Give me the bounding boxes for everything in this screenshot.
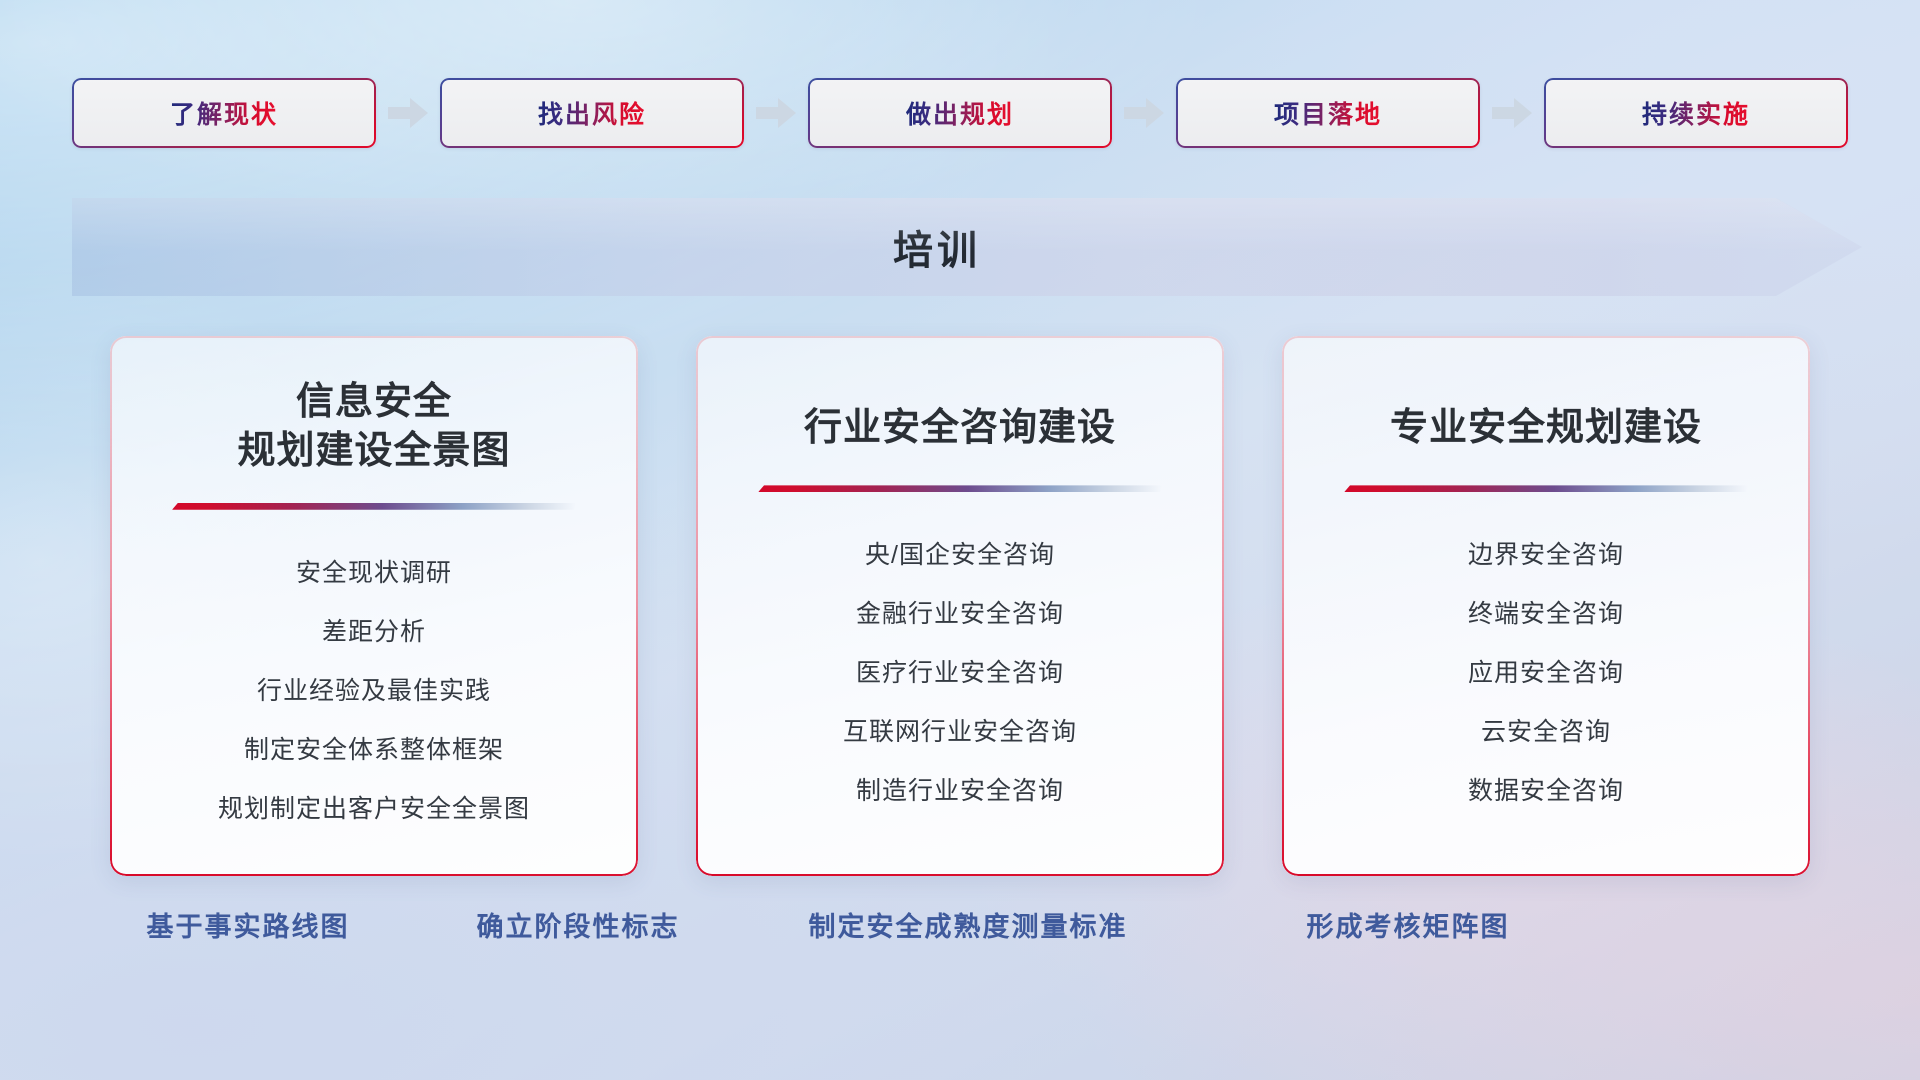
card-divider [1344, 485, 1748, 492]
service-card-3[interactable]: 专业安全规划建设边界安全咨询终端安全咨询应用安全咨询云安全咨询数据安全咨询 [1282, 336, 1810, 876]
footnote-4: 形成考核矩阵图 [1307, 905, 1510, 944]
list-item: 云安全咨询 [1481, 707, 1611, 757]
card-body: 专业安全规划建设边界安全咨询终端安全咨询应用安全咨询云安全咨询数据安全咨询 [1282, 336, 1810, 876]
list-item: 制造行业安全咨询 [856, 766, 1064, 816]
card-body: 行业安全咨询建设央/国企安全咨询金融行业安全咨询医疗行业安全咨询互联网行业安全咨… [696, 336, 1224, 876]
card-divider [758, 485, 1162, 492]
list-item: 互联网行业安全咨询 [843, 707, 1077, 757]
pipeline-step-label: 了解现状 [170, 95, 278, 131]
training-banner: 培训 [72, 198, 1862, 296]
pipeline-step-label: 做出规划 [906, 95, 1014, 131]
card-title: 行业安全咨询建设 [804, 404, 1116, 453]
banner-title: 培训 [72, 198, 1862, 296]
list-item: 规划制定出客户安全全景图 [218, 784, 530, 834]
card-divider [172, 503, 576, 510]
footnote-1: 基于事实路线图 [147, 905, 350, 944]
right-arrow-icon [1112, 78, 1176, 148]
pipeline-step-2[interactable]: 找出风险 [440, 78, 744, 148]
list-item: 差距分析 [322, 607, 426, 657]
card-title: 专业安全规划建设 [1390, 404, 1702, 453]
service-card-2[interactable]: 行业安全咨询建设央/国企安全咨询金融行业安全咨询医疗行业安全咨询互联网行业安全咨… [696, 336, 1224, 876]
list-item: 金融行业安全咨询 [856, 589, 1064, 639]
card-item-list: 央/国企安全咨询金融行业安全咨询医疗行业安全咨询互联网行业安全咨询制造行业安全咨… [726, 530, 1194, 816]
card-item-list: 安全现状调研差距分析行业经验及最佳实践制定安全体系整体框架规划制定出客户安全全景… [140, 548, 608, 834]
right-arrow-icon [376, 78, 440, 148]
footnote-2: 确立阶段性标志 [477, 905, 680, 944]
service-cards: 信息安全 规划建设全景图安全现状调研差距分析行业经验及最佳实践制定安全体系整体框… [110, 336, 1810, 876]
list-item: 行业经验及最佳实践 [257, 666, 491, 716]
right-arrow-icon [744, 78, 808, 148]
list-item: 医疗行业安全咨询 [856, 648, 1064, 698]
list-item: 应用安全咨询 [1468, 648, 1624, 698]
right-arrow-icon [1480, 78, 1544, 148]
pipeline-step-label: 找出风险 [538, 95, 646, 131]
footnote-row: 基于事实路线图确立阶段性标志制定安全成熟度测量标准形成考核矩阵图 [0, 905, 1920, 965]
pipeline-step-5[interactable]: 持续实施 [1544, 78, 1848, 148]
card-body: 信息安全 规划建设全景图安全现状调研差距分析行业经验及最佳实践制定安全体系整体框… [110, 336, 638, 876]
footnote-3: 制定安全成熟度测量标准 [809, 905, 1128, 944]
list-item: 边界安全咨询 [1468, 530, 1624, 580]
pipeline-step-label: 项目落地 [1274, 95, 1382, 131]
banner-arrow-shape: 培训 [72, 198, 1862, 296]
list-item: 制定安全体系整体框架 [244, 725, 504, 775]
card-item-list: 边界安全咨询终端安全咨询应用安全咨询云安全咨询数据安全咨询 [1312, 530, 1780, 816]
list-item: 数据安全咨询 [1468, 766, 1624, 816]
pipeline-step-3[interactable]: 做出规划 [808, 78, 1112, 148]
pipeline-step-1[interactable]: 了解现状 [72, 78, 376, 148]
pipeline-step-label: 持续实施 [1642, 95, 1750, 131]
list-item: 安全现状调研 [296, 548, 452, 598]
card-title: 信息安全 规划建设全景图 [237, 378, 510, 477]
list-item: 终端安全咨询 [1468, 589, 1624, 639]
service-card-1[interactable]: 信息安全 规划建设全景图安全现状调研差距分析行业经验及最佳实践制定安全体系整体框… [110, 336, 638, 876]
pipeline-step-4[interactable]: 项目落地 [1176, 78, 1480, 148]
slide-canvas: 了解现状找出风险做出规划项目落地持续实施 培训 信息安全 规划建设全景图安全现状… [0, 0, 1920, 1080]
process-pipeline: 了解现状找出风险做出规划项目落地持续实施 [72, 78, 1848, 148]
list-item: 央/国企安全咨询 [865, 530, 1055, 580]
